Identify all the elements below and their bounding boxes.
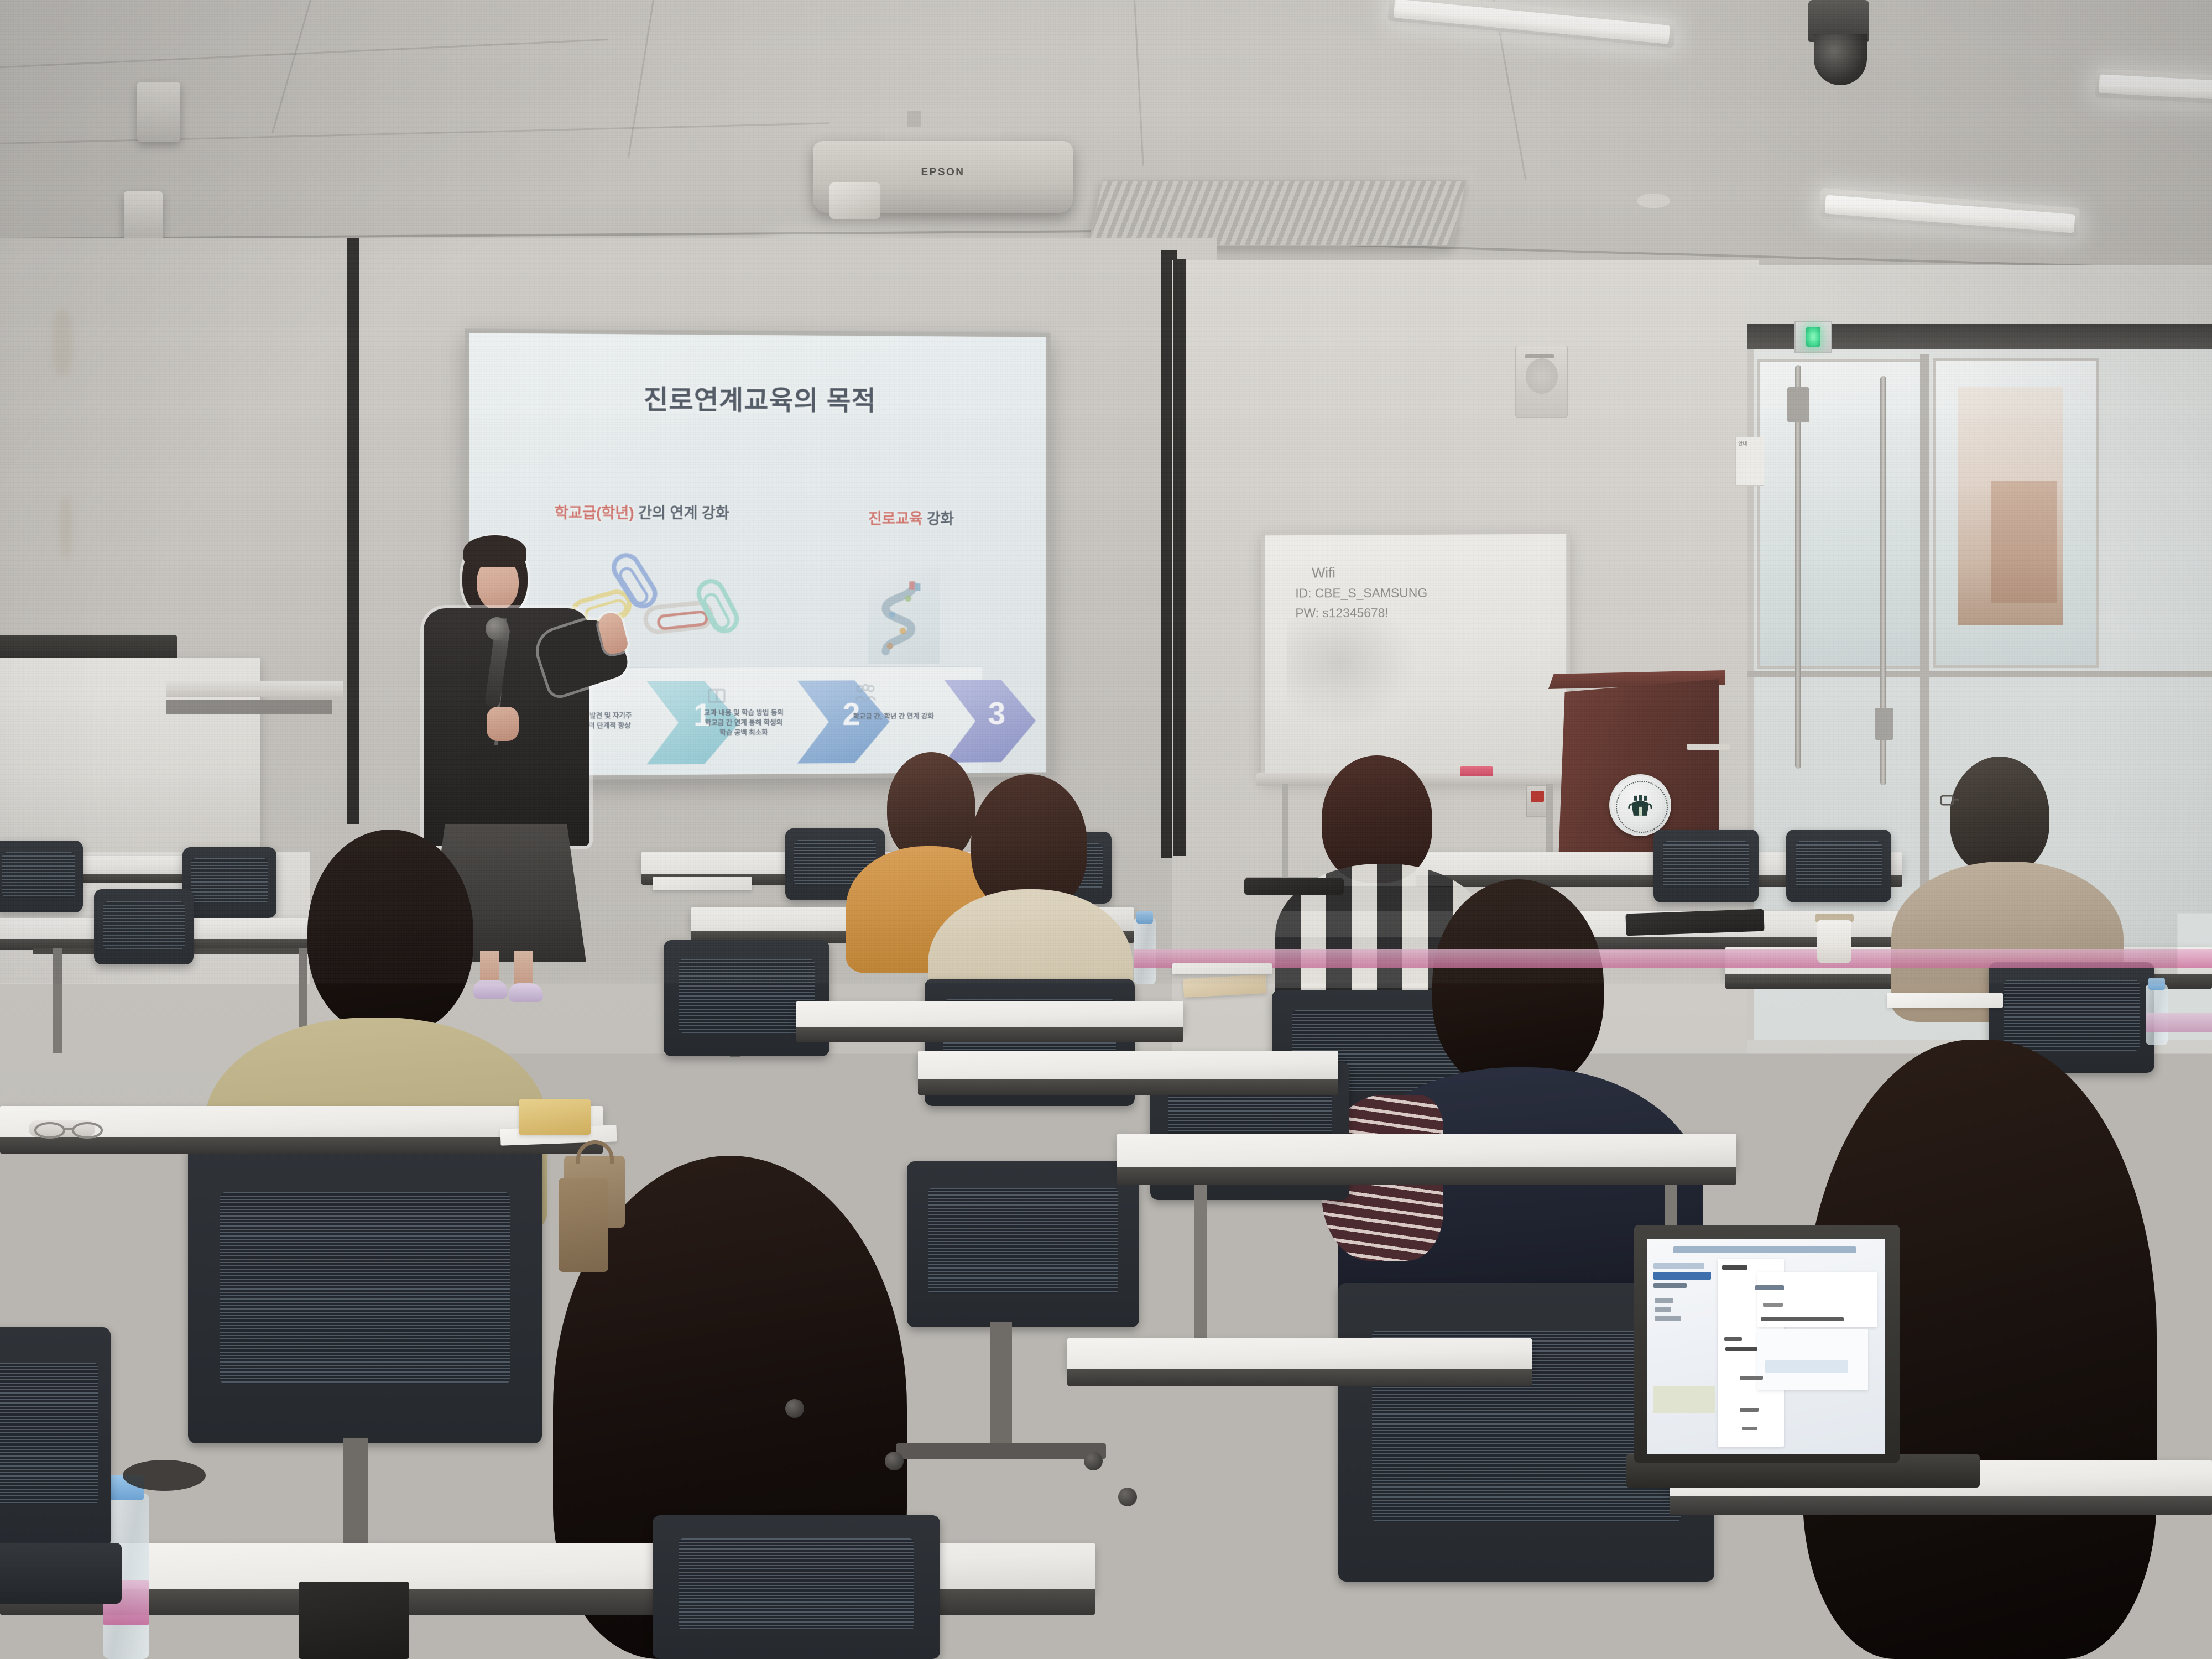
chair[interactable] xyxy=(0,1327,111,1548)
chair-base xyxy=(896,1443,1106,1459)
dark-lid xyxy=(123,1460,206,1491)
chair[interactable] xyxy=(188,1145,542,1443)
presenter-left-hand xyxy=(487,707,519,741)
wall-column-dark xyxy=(347,238,359,824)
chair[interactable] xyxy=(1786,830,1891,902)
ui-row xyxy=(1653,1263,1704,1269)
slide-subheading-right: 진로교육 강화 xyxy=(868,507,954,528)
chair[interactable] xyxy=(94,889,194,964)
bottle-label xyxy=(2146,1013,2212,1032)
wall-speaker-icon xyxy=(1515,346,1568,418)
door-rail xyxy=(1747,671,2212,677)
desk-edge xyxy=(1067,1369,1532,1386)
podium-emblem-icon xyxy=(1609,774,1671,836)
desk xyxy=(1117,1134,1736,1169)
slide-subheading-left: 학교급(학년) 간의 연계 강화 xyxy=(555,500,729,523)
slide-step-text-2: 교과 내용 및 학습 방법 등의 학교급 간 연계 통해 학생의 학습 공백 최… xyxy=(702,708,785,738)
desk-edge xyxy=(1670,1496,2212,1515)
wall-mark xyxy=(53,310,72,376)
presenter-hair-front xyxy=(463,535,526,567)
exit-sign-glow xyxy=(1806,327,1820,347)
ui-row xyxy=(1725,1347,1757,1351)
podium-microphone xyxy=(1687,744,1730,750)
door-lock-icon[interactable] xyxy=(1787,387,1809,422)
emblem-figures-icon xyxy=(1627,794,1653,818)
emergency-exit-sign xyxy=(1794,321,1832,353)
chair-caster xyxy=(885,1452,904,1470)
paper-sheet[interactable] xyxy=(1172,963,1272,974)
ui-row xyxy=(1765,1360,1848,1373)
track-light xyxy=(124,191,163,242)
chair[interactable] xyxy=(907,1161,1139,1327)
chair[interactable] xyxy=(182,847,276,918)
glass-pane-left[interactable] xyxy=(1757,359,1923,669)
chair[interactable] xyxy=(1394,1399,1703,1659)
whiteboard-leg xyxy=(1282,784,1288,878)
slide-step-text-3: 학교급 간, 학년 간 연계 강화 xyxy=(852,712,935,722)
whiteboard-line-password: PW: s12345678! xyxy=(1295,603,1427,623)
door-handle-left[interactable] xyxy=(1795,365,1801,769)
desk xyxy=(796,1001,1183,1030)
presenter-shoe xyxy=(509,983,543,1002)
eyeglasses-icon xyxy=(1940,791,1973,810)
whiteboard-eraser xyxy=(1460,766,1493,776)
ui-row xyxy=(1761,1317,1844,1321)
ui-titlebar xyxy=(1673,1246,1856,1253)
bottle-cap xyxy=(1136,911,1153,924)
smoke-detector-icon xyxy=(1637,194,1670,208)
tablet[interactable] xyxy=(1244,878,1344,895)
desk-edge xyxy=(1117,1167,1736,1185)
desk xyxy=(918,1051,1338,1082)
ui-panel xyxy=(1757,1329,1868,1390)
desk xyxy=(1067,1338,1532,1371)
wall-mark xyxy=(60,498,72,559)
track-light xyxy=(137,82,180,142)
chair[interactable] xyxy=(0,841,83,912)
ui-row xyxy=(1653,1283,1687,1288)
slide-subheading-right-rest: 강화 xyxy=(923,510,954,527)
desk-leg xyxy=(1194,1185,1207,1361)
chair-seat xyxy=(0,1543,122,1604)
career-path-s-curve-icon xyxy=(878,574,926,656)
paper-sheet[interactable] xyxy=(653,877,752,890)
slide-subheading-right-keyword: 진로교육 xyxy=(868,510,922,527)
paper-sheet[interactable] xyxy=(1887,993,2003,1008)
whiteboard-line-ssid: ID: CBE_S_SAMSUNG xyxy=(1295,583,1427,603)
chair-caster xyxy=(1118,1488,1137,1506)
ui-row xyxy=(1740,1376,1763,1380)
desk-leg xyxy=(53,948,62,1053)
slide-title: 진로연계교육의 목적 xyxy=(469,377,1046,418)
career-path-illustration xyxy=(868,567,940,664)
chair[interactable] xyxy=(653,1515,940,1659)
chair[interactable] xyxy=(1653,830,1759,902)
hvac-ceiling-diffuser xyxy=(1088,180,1467,246)
slide-subheading-left-keyword: 학교급(학년) xyxy=(555,504,634,521)
ui-row xyxy=(1742,1427,1757,1430)
attendee-head xyxy=(307,830,473,1034)
wall-column-dark xyxy=(1173,259,1186,856)
ui-row xyxy=(1655,1316,1681,1321)
chair-caster xyxy=(785,1399,804,1418)
attendee-head xyxy=(1432,879,1604,1089)
whiteboard-smudge xyxy=(1286,618,1418,728)
eyeglasses-icon xyxy=(32,1118,109,1140)
presenter-shoe xyxy=(473,980,508,999)
ui-row xyxy=(1755,1285,1784,1290)
ui-row-selected xyxy=(1653,1272,1711,1280)
exterior-brick-wall xyxy=(1991,481,2057,603)
chair-caster xyxy=(1084,1452,1103,1470)
tablet[interactable] xyxy=(299,1582,409,1659)
slide-step-number-3: 3 xyxy=(988,695,1006,732)
whiteboard: Wifi ID: CBE_S_SAMSUNG PW: s12345678! xyxy=(1261,530,1570,781)
security-camera-icon xyxy=(1814,34,1867,85)
bag-body[interactable] xyxy=(559,1178,608,1272)
ui-row xyxy=(1655,1298,1673,1303)
attendee-head xyxy=(1950,757,2049,874)
door-latch-icon[interactable] xyxy=(1875,708,1893,740)
classroom-photo-scene: EPSON 진로연계교육의 목적 학교급(학년) 간의 연계 강화 진로교육 강… xyxy=(0,0,2212,1659)
ui-row xyxy=(1722,1265,1747,1270)
whiteboard-line-wifi: Wifi xyxy=(1295,561,1427,584)
bottle-cap xyxy=(2148,978,2165,990)
ui-row xyxy=(1763,1303,1783,1307)
microphone-head-icon xyxy=(486,617,509,640)
projector-lens xyxy=(830,182,880,219)
people-icon xyxy=(853,684,878,702)
projector-brand-label: EPSON xyxy=(921,166,964,179)
coffee-cup[interactable] xyxy=(1817,920,1851,963)
bottle-label xyxy=(1134,949,2212,968)
fire-alarm-box xyxy=(1526,785,1547,817)
ui-row xyxy=(1740,1408,1759,1412)
ui-row xyxy=(1655,1307,1671,1312)
slide-subheading-left-rest: 간의 연계 강화 xyxy=(634,505,729,521)
chair-caster xyxy=(1371,1593,1399,1620)
desk-edge xyxy=(918,1079,1338,1095)
desk-edge xyxy=(796,1027,1183,1042)
door-notice-sign: 안내 xyxy=(1735,437,1764,486)
printer-paper-slot xyxy=(166,700,332,714)
chair-post xyxy=(990,1322,1012,1454)
book-icon xyxy=(705,686,729,705)
snack-item[interactable] xyxy=(519,1099,591,1135)
ui-row xyxy=(1724,1337,1742,1341)
whiteboard-notes: Wifi ID: CBE_S_SAMSUNG PW: s12345678! xyxy=(1295,561,1427,623)
printer-output-tray xyxy=(166,681,343,697)
